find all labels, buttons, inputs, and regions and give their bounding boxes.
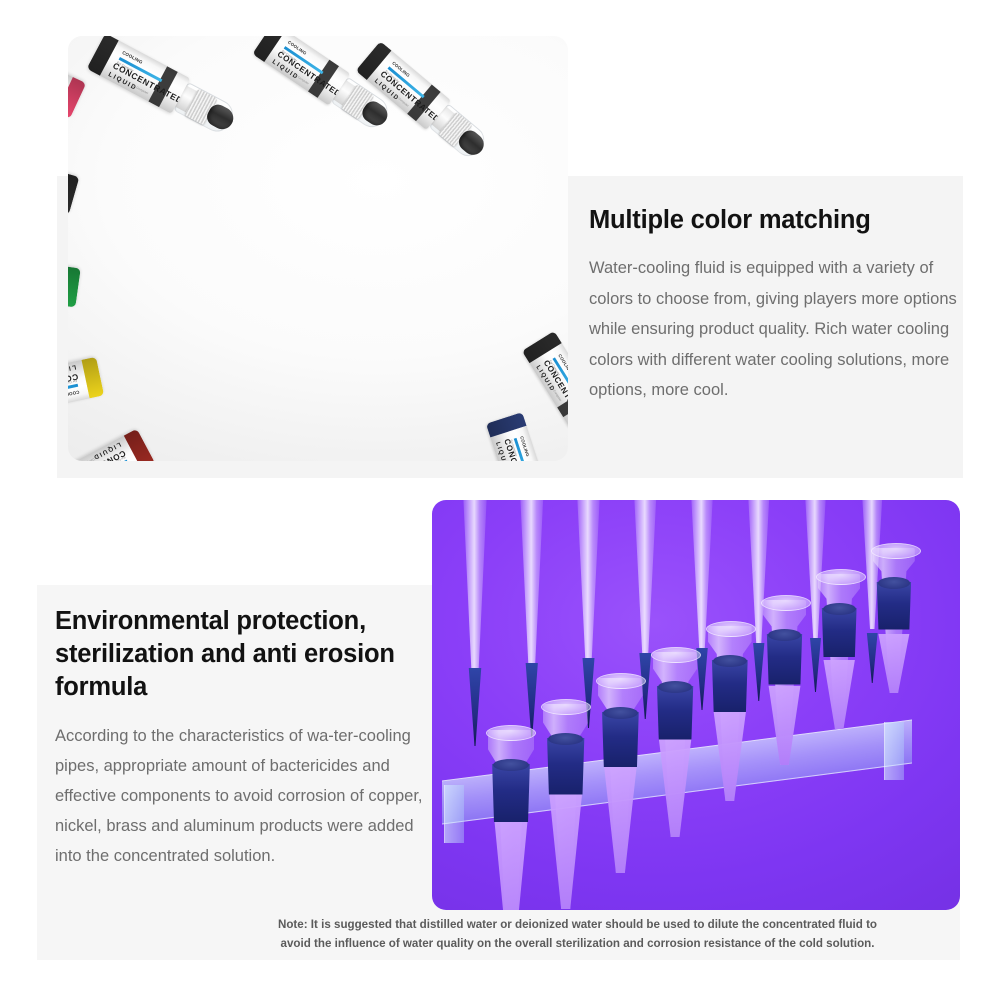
tube-concentrate: [873, 582, 915, 630]
pipette: [576, 500, 601, 674]
tube-diluted-fluid: [653, 738, 697, 837]
pipette-barrel: [462, 500, 488, 692]
tube-concentrate: [653, 686, 697, 740]
bottle-label: COOLINGFor ComputerCONCENTRATEDLIQUIDFor…: [68, 357, 104, 415]
pipette-barrel: [633, 500, 658, 665]
tube-rim: [761, 595, 811, 611]
tube-meniscus: [823, 603, 856, 615]
section-two-heading: Environmental protection, sterilization …: [55, 605, 440, 704]
tube-diluted-fluid: [708, 712, 752, 801]
section-two-body: According to the characteristics of wa-t…: [55, 721, 440, 871]
pipettes-and-test-tube-rack-image: [432, 500, 960, 910]
label-color-band-left: [124, 429, 155, 461]
test-tube: [598, 678, 643, 873]
tube-meniscus: [713, 655, 747, 667]
rack-leg-right: [884, 722, 904, 780]
tube-rim: [706, 621, 756, 637]
bottle-label: COOLINGFor ComputerCONCENTRATEDLIQUIDFor…: [68, 255, 81, 307]
tube-concentrate: [818, 608, 860, 657]
bottle-label: COOLINGFor ComputerCONCENTRATEDLIQUIDFor…: [68, 43, 86, 118]
test-tube: [543, 704, 588, 909]
dropper-bottle: COOLINGFor ComputerCONCENTRATEDLIQUIDFor…: [68, 429, 155, 461]
dropper-bottle: COOLINGFor ComputerCONCENTRATEDLIQUIDFor…: [87, 36, 238, 139]
section-two-text-block: Environmental protection, sterilization …: [55, 605, 440, 871]
tube-concentrate: [708, 660, 752, 712]
dilution-note-line-1: Note: It is suggested that distilled wat…: [278, 918, 877, 931]
dilution-note: Note: It is suggested that distilled wat…: [190, 916, 965, 953]
tube-diluted-fluid: [818, 660, 860, 729]
tube-rim: [541, 699, 591, 715]
tube-meniscus: [878, 577, 911, 589]
section-one-text-block: Multiple color matching Water-cooling fl…: [589, 206, 961, 406]
tube-meniscus: [603, 707, 638, 719]
bottle-label: COOLINGFor ComputerCONCENTRATEDLIQUIDFor…: [68, 429, 155, 461]
dropper-bottle: COOLINGFor ComputerCONCENTRATEDLIQUIDFor…: [486, 412, 566, 461]
tube-diluted-fluid: [488, 816, 534, 910]
label-color-band-left: [68, 77, 86, 119]
tube-rim: [651, 647, 701, 663]
label-color-band-left: [68, 173, 79, 215]
product-feature-page: COOLINGFor ComputerCONCENTRATEDLIQUIDFor…: [0, 0, 1000, 1000]
tube-rim: [871, 543, 921, 559]
test-tube: [653, 652, 697, 837]
dropper-bottle: COOLINGFor ComputerCONCENTRATEDLIQUIDFor…: [68, 36, 86, 119]
pipette: [462, 500, 488, 692]
tube-concentrate: [763, 634, 806, 685]
tube-concentrate: [543, 738, 588, 795]
tube-concentrate: [488, 764, 534, 822]
test-tube: [763, 600, 806, 765]
test-tube: [708, 626, 752, 801]
test-tube: [873, 548, 915, 693]
tube-rim: [486, 725, 536, 741]
section-one-body: Water-cooling fluid is equipped with a v…: [589, 253, 961, 406]
tube-diluted-fluid: [598, 764, 643, 873]
bottle-label: COOLINGFor ComputerCONCENTRATEDLIQUIDFor…: [486, 412, 550, 461]
pipette: [633, 500, 658, 665]
section-one-heading: Multiple color matching: [589, 206, 961, 235]
tube-rim: [816, 569, 866, 585]
test-tube: [488, 730, 534, 910]
bottle-label: COOLINGFor ComputerCONCENTRATEDLIQUIDFor…: [252, 36, 350, 105]
pipette-barrel: [576, 500, 601, 674]
label-color-band-left: [486, 412, 527, 437]
tube-diluted-fluid: [543, 790, 588, 909]
bottle-label: COOLINGFor ComputerCONCENTRATEDLIQUIDFor…: [68, 151, 79, 215]
tube-rim: [596, 673, 646, 689]
pipette: [519, 500, 545, 683]
rack-leg-left: [444, 785, 464, 843]
dropper-bottle: COOLINGFor ComputerCONCENTRATEDLIQUIDFor…: [68, 137, 79, 215]
pipette-concentrate: [462, 668, 488, 746]
dropper-bottle: COOLINGFor ComputerCONCENTRATEDLIQUIDFor…: [68, 248, 81, 307]
label-brand: COOLING: [68, 390, 80, 399]
concentrated-liquid-dropper-bottles-image: COOLINGFor ComputerCONCENTRATEDLIQUIDFor…: [68, 36, 568, 461]
tube-diluted-fluid: [763, 686, 806, 765]
label-color-band-left: [68, 267, 81, 308]
dropper-bottle: COOLINGFor ComputerCONCENTRATEDLIQUIDFor…: [68, 357, 104, 426]
dilution-note-line-2: avoid the influence of water quality on …: [190, 935, 965, 954]
tube-diluted-fluid: [873, 634, 915, 693]
pipette-barrel: [519, 500, 545, 683]
tube-meniscus: [493, 759, 529, 771]
tube-concentrate: [598, 712, 643, 767]
label-color-band-left: [82, 357, 105, 398]
bottle-label: COOLINGFor ComputerCONCENTRATEDLIQUIDFor…: [87, 36, 191, 114]
tube-meniscus: [658, 681, 692, 693]
bottle-label: COOLINGFor ComputerCONCENTRATEDLIQUIDFor…: [522, 331, 568, 428]
tube-meniscus: [768, 629, 802, 641]
test-tube: [818, 574, 860, 729]
tube-meniscus: [548, 733, 583, 745]
